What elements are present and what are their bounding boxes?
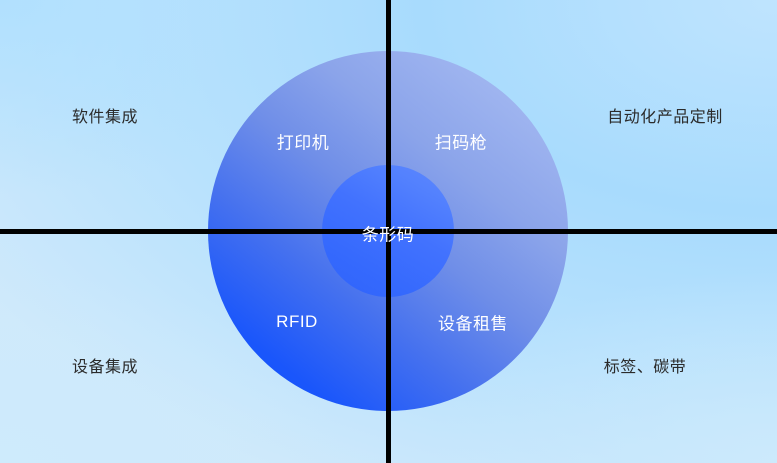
ring-label-rfid: RFID [276,312,318,332]
quadrant-label-automation-customization: 自动化产品定制 [607,103,723,127]
center-label-barcode: 条形码 [362,221,415,246]
ring-label-equipment-rental: 设备租售 [438,310,508,335]
ring-label-printer: 打印机 [277,129,330,154]
quadrant-label-software-integration: 软件集成 [72,103,138,127]
diagram-canvas: 软件集成 自动化产品定制 设备集成 标签、碳带 打印机 扫码枪 RFID 设备租… [0,0,777,463]
ring-label-scanner: 扫码枪 [435,129,488,154]
quadrant-label-labels-ribbons: 标签、碳带 [604,353,687,377]
quadrant-label-equipment-integration: 设备集成 [72,353,138,377]
